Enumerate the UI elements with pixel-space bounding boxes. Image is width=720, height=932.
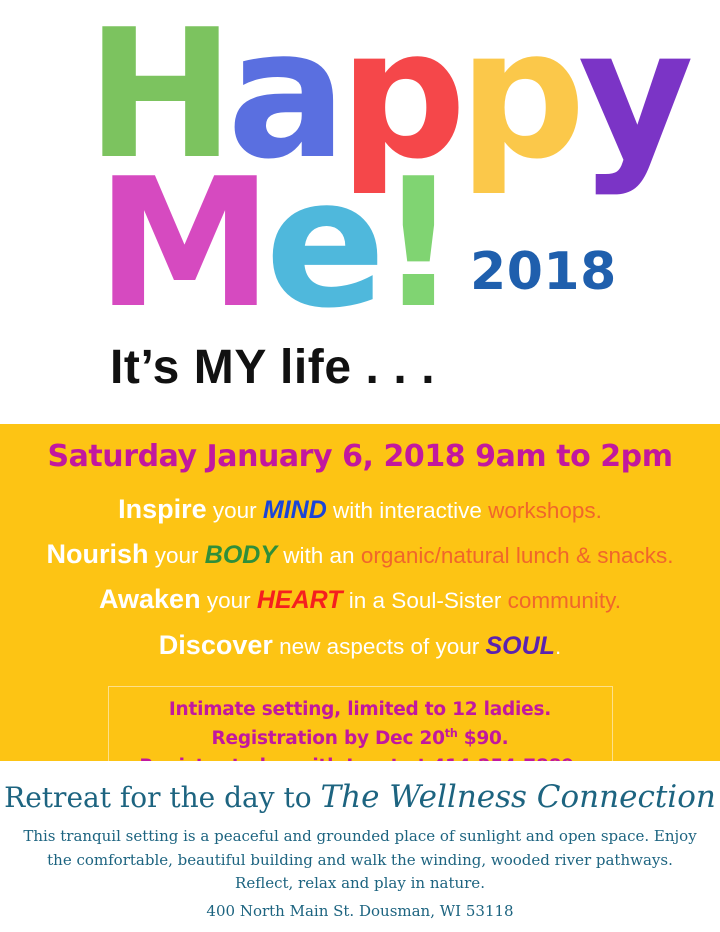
venue-footer: Retreat for the day to The Wellness Conn… bbox=[0, 761, 720, 932]
promise-lead: Awaken bbox=[99, 584, 201, 614]
promise-mid: your bbox=[207, 498, 263, 523]
registration-deadline-text: Registration by Dec 20 bbox=[211, 728, 444, 749]
logo-letter-y: y bbox=[578, 6, 686, 184]
promise-mid: your bbox=[149, 543, 205, 568]
promise-mid2: in a Soul-Sister bbox=[343, 588, 508, 613]
registration-price: $90. bbox=[458, 728, 509, 749]
venue-address: 400 North Main St. Dousman, WI 53118 bbox=[0, 900, 720, 923]
event-promise-list: Inspire your MIND with interactive works… bbox=[0, 487, 720, 668]
promise-mid: new aspects of your bbox=[273, 634, 486, 659]
promise-lead: Nourish bbox=[46, 539, 148, 569]
logo-exclamation-icon: ! bbox=[378, 155, 451, 333]
retreat-prefix-text: Retreat for the day to bbox=[4, 781, 320, 814]
logo-tagline: It’s MY life . . . bbox=[110, 344, 435, 392]
registration-deadline-price: Registration by Dec 20th $90. bbox=[109, 725, 612, 754]
logo-letter-e: e bbox=[265, 155, 378, 333]
promise-lead: Inspire bbox=[118, 494, 207, 524]
promise-mid2: with interactive bbox=[327, 498, 488, 523]
promise-tail: organic/natural lunch & snacks bbox=[361, 543, 667, 568]
promise-period: . bbox=[596, 498, 602, 523]
registration-ordinal-suffix: th bbox=[445, 727, 458, 740]
promise-keyword: SOUL bbox=[485, 632, 554, 660]
logo-header: Happy Me! 2018 It’s MY life . . . bbox=[0, 0, 720, 424]
event-details-band: Saturday January 6, 2018 9am to 2pm Insp… bbox=[0, 424, 720, 761]
promise-line: Nourish your BODY with an organic/natura… bbox=[0, 532, 720, 577]
promise-keyword: HEART bbox=[257, 586, 343, 614]
promise-line: Discover new aspects of your SOUL. bbox=[0, 623, 720, 668]
happy-me-wordmark: Happy Me! 2018 bbox=[0, 0, 720, 340]
promise-mid: your bbox=[201, 588, 257, 613]
logo-letter-p2: p bbox=[458, 6, 577, 184]
event-date-time: Saturday January 6, 2018 9am to 2pm bbox=[0, 438, 720, 476]
venue-name: The Wellness Connection bbox=[320, 779, 715, 815]
promise-period: . bbox=[555, 634, 561, 659]
retreat-headline: Retreat for the day to The Wellness Conn… bbox=[0, 779, 720, 817]
promise-mid2: with an bbox=[277, 543, 361, 568]
promise-line: Inspire your MIND with interactive works… bbox=[0, 487, 720, 532]
logo-word-me: Me! bbox=[96, 155, 451, 333]
promise-tail: community bbox=[508, 588, 615, 613]
registration-capacity: Intimate setting, limited to 12 ladies. bbox=[109, 696, 612, 725]
promise-keyword: BODY bbox=[205, 541, 277, 569]
promise-tail: workshops bbox=[488, 498, 596, 523]
promise-lead: Discover bbox=[159, 630, 273, 660]
venue-description: This tranquil setting is a peaceful and … bbox=[0, 825, 720, 896]
promise-period: . bbox=[667, 543, 673, 568]
promise-keyword: MIND bbox=[263, 496, 327, 524]
venue-description-line2: beautiful building and walk the winding,… bbox=[178, 851, 673, 893]
logo-letter-m: M bbox=[96, 155, 265, 333]
promise-line: Awaken your HEART in a Soul-Sister commu… bbox=[0, 577, 720, 622]
promise-period: . bbox=[615, 588, 621, 613]
logo-year: 2018 bbox=[470, 246, 617, 298]
